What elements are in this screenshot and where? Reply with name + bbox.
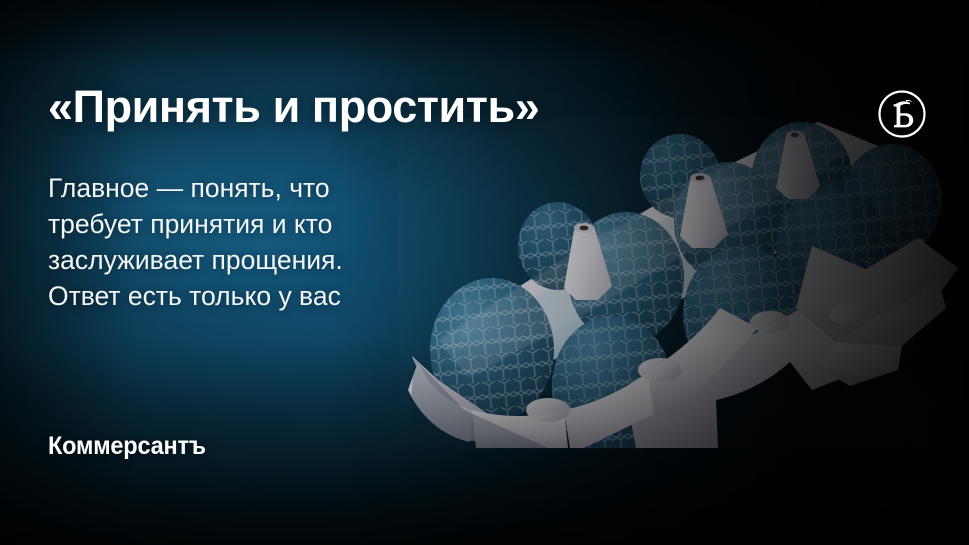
page-title: «Принять и простить» [48,83,539,132]
kommersant-wordmark: Коммерсантъ [48,432,206,461]
kommersant-social-card: «Принять и простить» Главное — понять, ч… [0,0,969,545]
kommersant-monogram-icon[interactable] [876,88,928,140]
subtitle-text: Главное — понять, что требует принятия и… [48,170,408,314]
